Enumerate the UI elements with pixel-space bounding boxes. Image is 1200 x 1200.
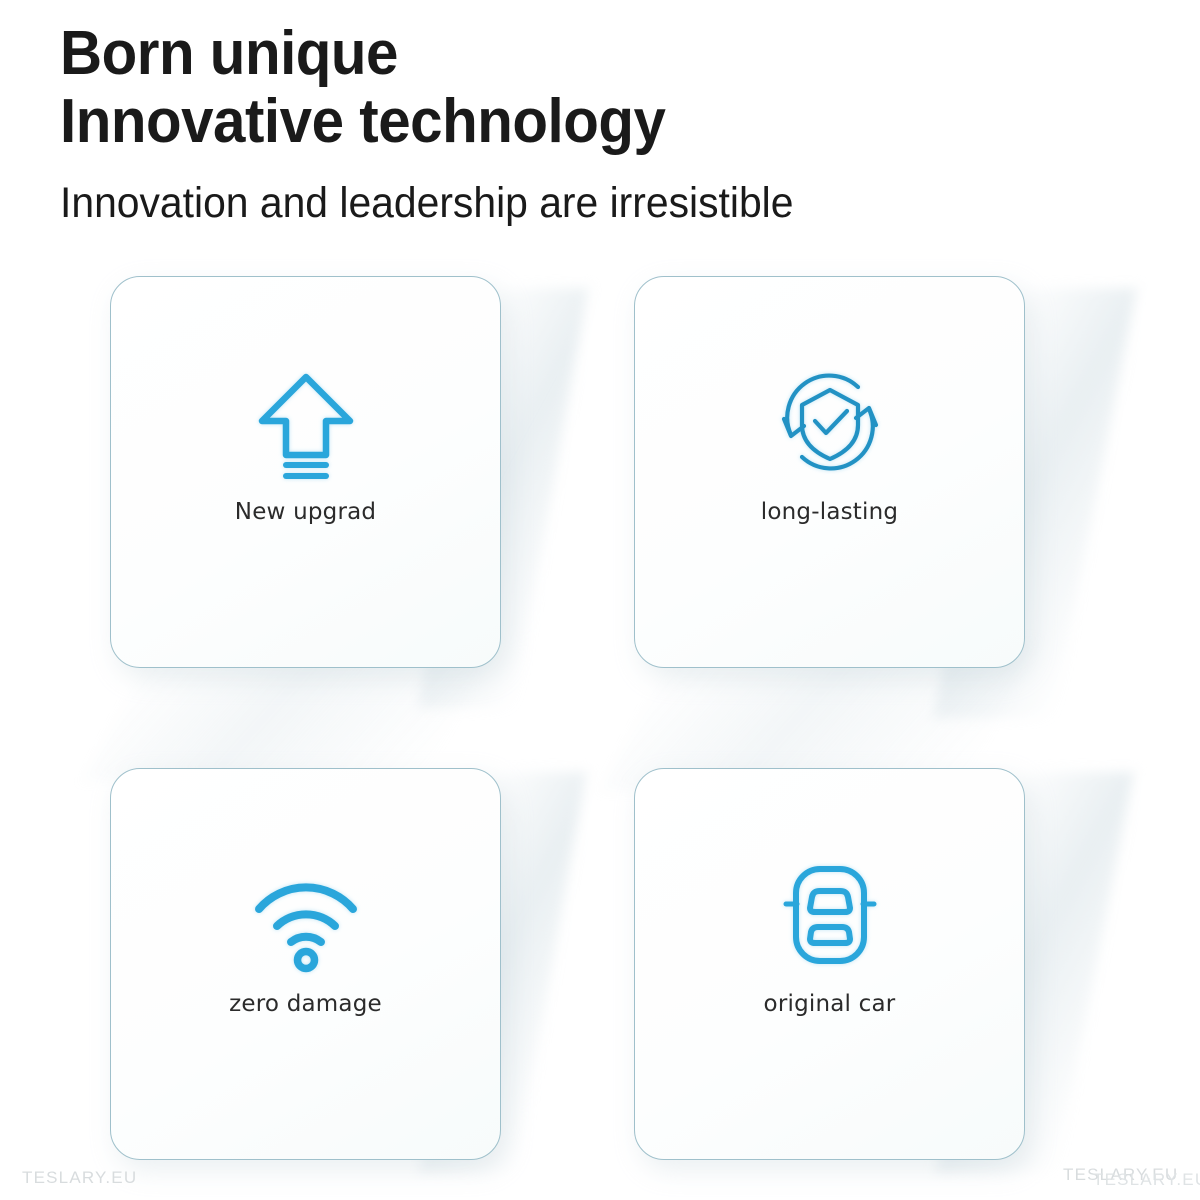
- feature-card-grid: New upgrad long-lasting: [110, 276, 1025, 1160]
- feature-card-label: zero damage: [229, 991, 382, 1017]
- shield-check-refresh-icon: [770, 363, 890, 481]
- feature-card-label: original car: [764, 991, 896, 1017]
- page-title-line-1: Born unique: [60, 20, 786, 88]
- feature-card-label: long-lasting: [761, 499, 898, 525]
- page-header: Born unique Innovative technology Innova…: [60, 20, 832, 228]
- feature-card-label: New upgrad: [235, 499, 376, 525]
- wifi-signal-icon: [246, 855, 366, 973]
- upload-arrow-icon: [246, 363, 366, 481]
- page-title-line-2: Innovative technology: [60, 88, 786, 156]
- feature-card-original-car[interactable]: original car: [634, 768, 1025, 1160]
- watermark-bottom-right-overlap: TESLARY.EU: [1093, 1170, 1200, 1190]
- page-subtitle: Innovation and leadership are irresistib…: [60, 178, 793, 228]
- feature-card-zero-damage[interactable]: zero damage: [110, 768, 501, 1160]
- feature-card-new-upgrad[interactable]: New upgrad: [110, 276, 501, 668]
- feature-card-long-lasting[interactable]: long-lasting: [634, 276, 1025, 668]
- watermark-bottom-left: TESLARY.EU: [22, 1168, 137, 1188]
- car-top-view-icon: [770, 855, 890, 973]
